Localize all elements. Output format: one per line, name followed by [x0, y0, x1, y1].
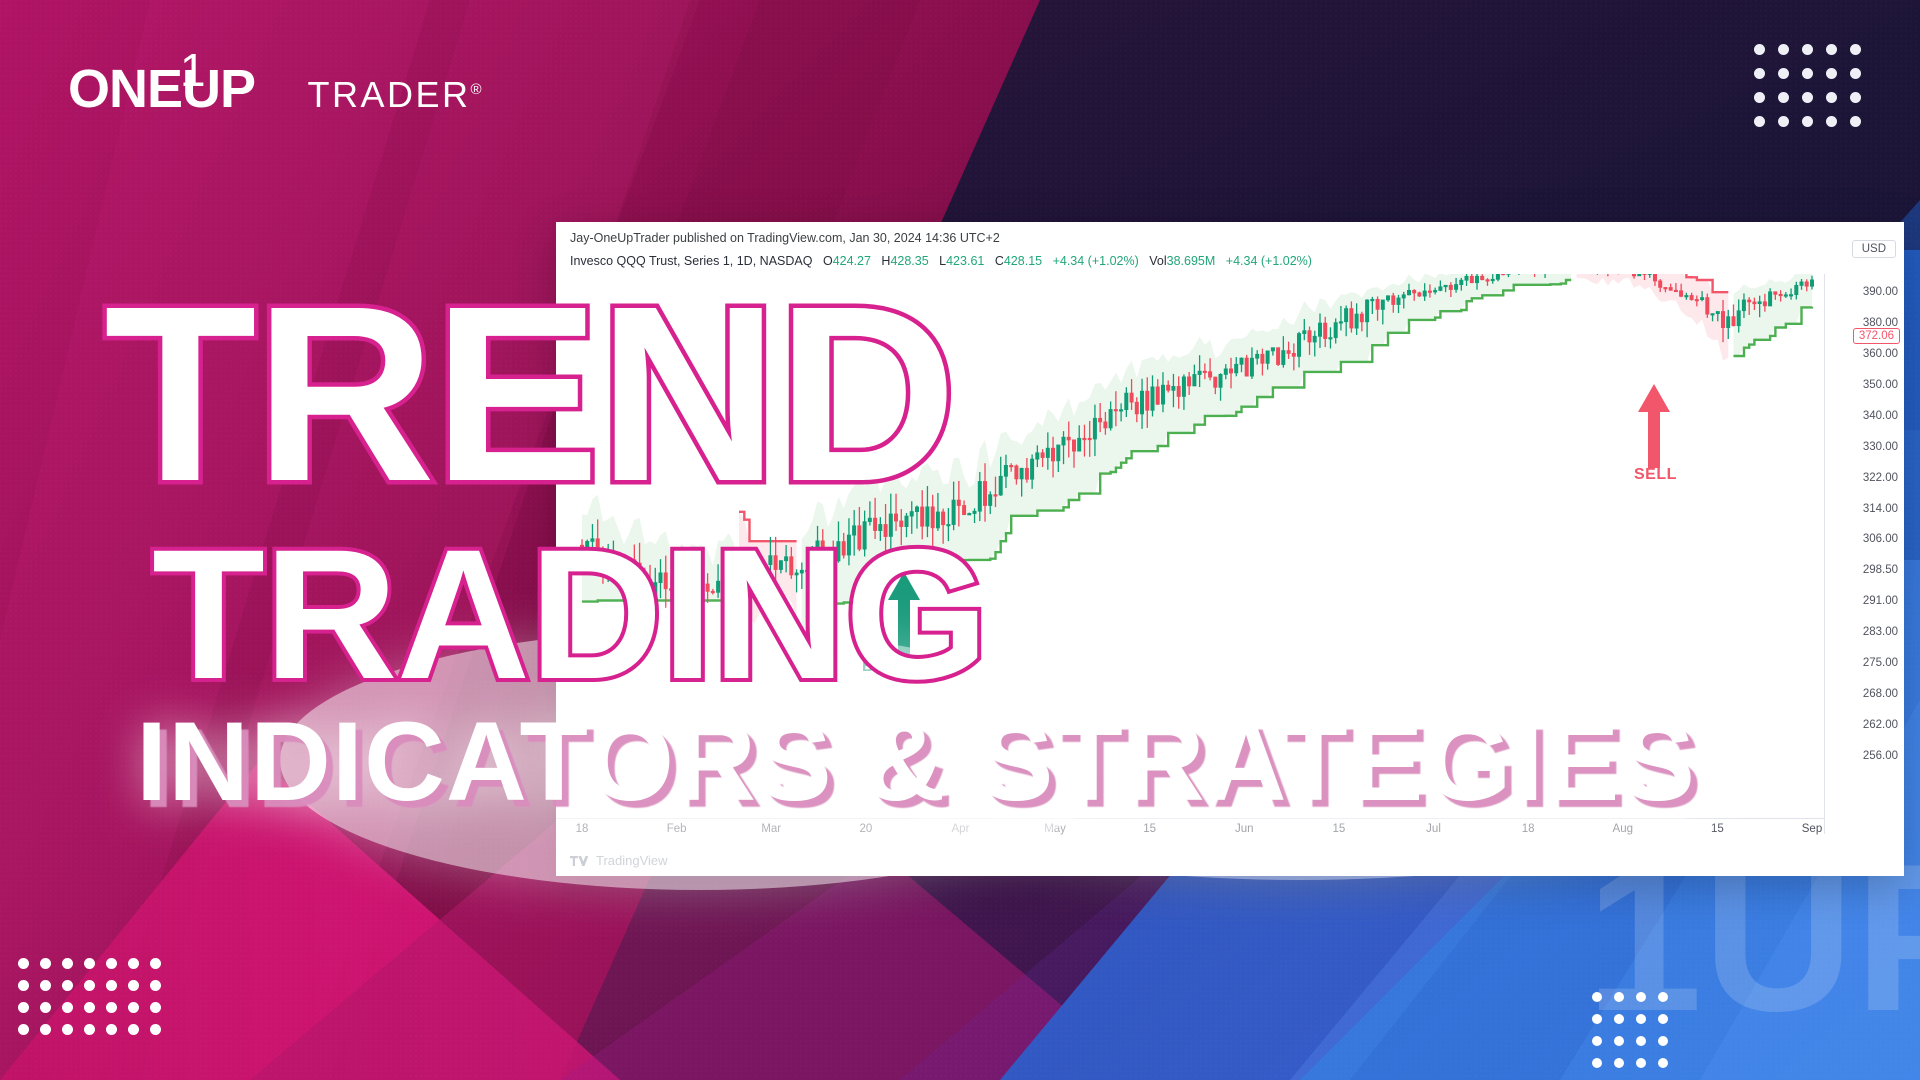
candle-body: [1151, 387, 1154, 410]
legend-change: +4.34 (+1.02%): [1053, 254, 1139, 268]
candle-body: [1496, 274, 1499, 279]
candle-body: [1805, 282, 1808, 286]
candle-body: [1680, 291, 1683, 297]
logo-line-oneup: ONEUP 1: [68, 62, 255, 116]
candle-body: [1167, 385, 1170, 390]
candle-body: [1737, 311, 1740, 326]
candle-body: [1093, 418, 1096, 439]
candle-body: [1334, 323, 1337, 338]
candle-body: [1193, 375, 1196, 386]
time-tick: 18: [1522, 823, 1535, 835]
candle-body: [1360, 314, 1363, 322]
candle-body: [1146, 391, 1149, 410]
candle-body: [785, 557, 788, 561]
candle-body: [607, 562, 610, 570]
time-tick: 18: [576, 823, 589, 835]
candle-body: [1475, 276, 1478, 282]
price-tick: 283.00: [1863, 626, 1898, 638]
supertrend-line: [582, 601, 734, 602]
candle-body: [926, 507, 929, 526]
candle-body: [1277, 348, 1280, 365]
candle-body: [811, 555, 814, 571]
candle-body: [1130, 393, 1133, 402]
time-tick: Sep: [1802, 823, 1822, 835]
candle-body: [837, 542, 840, 561]
candle-body: [748, 582, 751, 585]
candle-body: [1235, 364, 1238, 373]
registered-trademark-icon: ®: [471, 81, 482, 98]
candle-body: [743, 575, 746, 583]
candle-body: [1434, 291, 1437, 292]
candle-body: [1407, 290, 1410, 294]
candle-body: [1161, 385, 1164, 404]
candle-body: [1099, 418, 1102, 422]
candle-body: [1748, 300, 1751, 302]
candle-body: [910, 512, 913, 516]
dot-grid-bottom-left: [18, 958, 172, 1046]
legend-volume-change: +4.34 (+1.02%): [1226, 254, 1312, 268]
tradingview-logo-icon: [570, 854, 590, 868]
candle-body: [1109, 410, 1112, 428]
candle-body: [1072, 440, 1075, 451]
candle-body: [764, 565, 767, 583]
candle-body: [1125, 393, 1128, 410]
candle-body: [1669, 288, 1672, 291]
candle-body: [1350, 309, 1353, 328]
legend-open-label: O: [823, 254, 833, 268]
candle-body: [790, 557, 793, 575]
candle-body: [1345, 309, 1348, 322]
candle-body: [1648, 274, 1651, 275]
candle-body: [1763, 302, 1766, 306]
candle-body: [1004, 465, 1007, 476]
candle-body: [1067, 437, 1070, 440]
candle-body: [921, 507, 924, 526]
candle-body: [1287, 351, 1290, 354]
price-tick: 322.00: [1863, 472, 1898, 484]
time-axis[interactable]: 18FebMar20AprMay15Jun15Jul18Aug15Sep: [556, 818, 1824, 840]
candle-body: [1455, 285, 1458, 290]
candle-body: [612, 558, 615, 561]
candle-body: [853, 526, 856, 535]
candle-body: [633, 560, 636, 563]
candle-body: [800, 570, 803, 573]
candle-body: [1784, 295, 1787, 296]
candle-body: [816, 541, 819, 555]
candle-body: [1083, 438, 1086, 439]
candle-body: [1413, 290, 1416, 293]
candle-body: [1182, 377, 1185, 397]
candle-body: [1308, 331, 1311, 342]
candle-body: [957, 500, 960, 505]
candle-body: [936, 512, 939, 528]
candle-body: [1381, 300, 1384, 309]
candle-body: [1214, 377, 1217, 387]
candle-body: [1318, 323, 1321, 336]
time-tick: Aug: [1613, 823, 1633, 835]
candle-body: [1078, 438, 1081, 451]
candle-body: [617, 558, 620, 569]
candle-body: [1376, 299, 1379, 309]
candle-body: [1188, 377, 1191, 386]
buy-arrow-icon: [884, 570, 924, 666]
candle-body: [978, 482, 981, 512]
candle-body: [680, 580, 683, 581]
candle-body: [889, 514, 892, 536]
candle-body: [1386, 296, 1389, 300]
candle-body: [1229, 369, 1232, 373]
candle-body: [915, 507, 918, 512]
candle-body: [1339, 322, 1342, 323]
candle-body: [1653, 274, 1656, 281]
candle-body: [879, 525, 882, 531]
oneup-trader-logo: ONEUP 1 TRADER®: [68, 62, 482, 116]
candle-body: [963, 506, 966, 515]
candle-body: [596, 539, 599, 553]
candle-body: [1742, 300, 1745, 311]
candle-body: [1224, 369, 1227, 375]
time-tick: Feb: [667, 823, 687, 835]
candle-body: [1051, 448, 1054, 461]
candle-body: [1156, 387, 1159, 404]
candle-body: [863, 522, 866, 549]
candle-body: [931, 507, 934, 528]
price-tick: 291.00: [1863, 595, 1898, 607]
candle-body: [1690, 296, 1693, 300]
candle-body: [774, 556, 777, 570]
candle-body: [1062, 437, 1065, 445]
candle-body: [1256, 354, 1259, 358]
candle-body: [1423, 291, 1426, 296]
candle-body: [638, 563, 641, 579]
candle-body: [1470, 276, 1473, 282]
time-tick: 15: [1143, 823, 1156, 835]
candle-body: [1355, 314, 1358, 328]
legend-volume-value: 38.695M: [1167, 254, 1216, 268]
candle-body: [826, 553, 829, 560]
candle-body: [643, 580, 646, 581]
legend-exchange: NASDAQ: [760, 254, 813, 268]
candle-body: [1701, 298, 1704, 300]
candle-body: [1732, 317, 1735, 326]
tradingview-label: TradingView: [596, 853, 668, 868]
candle-body: [1297, 334, 1300, 357]
chart-plot-area[interactable]: [556, 274, 1824, 822]
candle-body: [1465, 276, 1468, 280]
time-tick: Jun: [1235, 823, 1254, 835]
candle-body: [868, 518, 871, 521]
candle-body: [905, 516, 908, 527]
currency-badge: USD: [1852, 240, 1896, 258]
candle-body: [1769, 292, 1772, 306]
candle-body: [1036, 453, 1039, 459]
candle-body: [1674, 290, 1677, 291]
candle-body: [1120, 410, 1123, 411]
candle-body: [675, 580, 678, 590]
candle-body: [1366, 300, 1369, 322]
dot-grid-bottom-right: [1592, 992, 1680, 1080]
chart-legend: Invesco QQQ Trust, Series 1, 1D, NASDAQ …: [570, 254, 1312, 268]
candle-body: [1502, 274, 1505, 275]
candle-body: [1088, 438, 1091, 439]
candle-body: [795, 573, 798, 575]
candle-body: [1810, 280, 1813, 286]
candle-body: [1015, 466, 1018, 479]
candle-body: [1261, 354, 1264, 363]
candle-body: [1753, 302, 1756, 304]
price-tick: 298.50: [1863, 564, 1898, 576]
candle-body: [737, 569, 740, 575]
logo-one-text: ONE: [68, 59, 182, 119]
legend-open-value: 424.27: [833, 254, 871, 268]
candle-body: [1031, 459, 1034, 479]
candle-body: [994, 495, 997, 496]
candle-body: [874, 518, 877, 530]
candle-body: [832, 553, 835, 561]
candle-body: [711, 591, 714, 592]
candle-body: [1449, 285, 1452, 289]
price-tick: 330.00: [1863, 441, 1898, 453]
time-tick: 15: [1333, 823, 1346, 835]
candle-body: [732, 569, 735, 576]
candle-body: [586, 541, 589, 550]
candle-body: [1481, 276, 1484, 279]
chart-credit-line: Jay-OneUpTrader published on TradingView…: [570, 231, 1000, 245]
candle-body: [1219, 374, 1222, 387]
candle-body: [1402, 295, 1405, 298]
candle-body: [1418, 293, 1421, 296]
tradingview-attribution[interactable]: TradingView: [570, 853, 668, 868]
candle-body: [722, 581, 725, 584]
candle-body: [769, 556, 772, 565]
candle-body: [1371, 299, 1374, 300]
legend-close-value: 428.15: [1004, 254, 1042, 268]
candle-body: [1706, 298, 1709, 315]
candle-body: [1135, 402, 1138, 414]
candle-body: [696, 570, 699, 576]
candle-body: [601, 553, 604, 571]
candle-body: [1800, 282, 1803, 286]
candle-body: [727, 576, 730, 584]
candle-body: [1324, 323, 1327, 339]
candle-body: [1439, 287, 1442, 291]
price-axis[interactable]: USD 372.06 390.00380.00360.00350.00340.0…: [1824, 274, 1904, 834]
candle-body: [1245, 358, 1248, 376]
price-tick: 380.00: [1863, 317, 1898, 329]
candle-body: [894, 514, 897, 521]
candle-body: [942, 512, 945, 525]
candle-body: [1758, 302, 1761, 304]
time-tick: 20: [859, 823, 872, 835]
price-tick: 390.00: [1863, 286, 1898, 298]
legend-volume-label: Vol: [1149, 254, 1166, 268]
candle-body: [1250, 358, 1253, 376]
price-tick: 275.00: [1863, 657, 1898, 669]
candle-body: [1041, 453, 1044, 458]
last-price-badge: 372.06: [1853, 328, 1900, 344]
candle-body: [999, 476, 1002, 495]
candle-body: [1789, 295, 1792, 296]
price-tick: 314.00: [1863, 503, 1898, 515]
candle-body: [1104, 422, 1107, 428]
candle-body: [1203, 371, 1206, 372]
candle-body: [1240, 358, 1243, 364]
price-tick: 262.00: [1863, 719, 1898, 731]
candle-body: [648, 580, 651, 597]
candle-body: [1282, 351, 1285, 365]
candle-body: [685, 581, 688, 592]
candle-body: [983, 482, 986, 506]
candle-body: [1643, 274, 1646, 275]
logo-line-trader: TRADER®: [308, 70, 482, 115]
candle-body: [591, 539, 594, 542]
price-tick: 340.00: [1863, 410, 1898, 422]
candle-body: [1795, 285, 1798, 294]
logo-trader-text: TRADER: [308, 74, 471, 115]
candle-body: [706, 584, 709, 591]
candle-body: [1292, 353, 1295, 356]
candle-body: [1664, 288, 1667, 289]
time-tick: May: [1044, 823, 1066, 835]
logo-digit-one: 1: [180, 43, 206, 97]
candle-body: [1313, 336, 1316, 342]
candle-body: [1303, 331, 1306, 334]
candle-body: [1721, 312, 1724, 328]
candle-body: [1491, 279, 1494, 280]
candle-body: [884, 525, 887, 537]
price-tick: 306.00: [1863, 533, 1898, 545]
candle-body: [1114, 410, 1117, 411]
candle-body: [669, 589, 672, 590]
candle-body: [701, 570, 704, 584]
buy-marker-label: BUY: [862, 658, 897, 676]
candle-body: [952, 500, 955, 524]
candle-body: [1486, 280, 1489, 281]
candle-body: [654, 583, 657, 597]
candle-body: [821, 541, 824, 560]
time-tick: Jul: [1426, 823, 1441, 835]
candle-body: [1428, 291, 1431, 292]
candle-body: [1659, 281, 1662, 288]
candle-body: [1638, 274, 1641, 276]
legend-high-value: 428.35: [890, 254, 928, 268]
candle-body: [1198, 371, 1201, 374]
sell-marker-label: SELL: [1634, 466, 1677, 484]
candle-body: [847, 535, 850, 555]
candle-body: [659, 573, 662, 583]
candle-body: [900, 521, 903, 527]
candle-body: [1397, 298, 1400, 305]
legend-symbol: Invesco QQQ Trust, Series 1: [570, 254, 730, 268]
price-tick: 360.00: [1863, 348, 1898, 360]
price-tick: 350.00: [1863, 379, 1898, 391]
candle-body: [1685, 296, 1688, 297]
candle-body: [973, 511, 976, 513]
candle-body: [1727, 317, 1730, 328]
candle-body: [805, 570, 808, 571]
candle-body: [1177, 386, 1180, 396]
candle-body: [1209, 372, 1212, 377]
candle-body: [989, 495, 992, 506]
price-tick: 268.00: [1863, 688, 1898, 700]
candle-body: [1057, 445, 1060, 461]
candle-body: [1010, 465, 1013, 466]
time-tick: Mar: [761, 823, 781, 835]
legend-interval: 1D: [737, 254, 753, 268]
candle-body: [1632, 274, 1635, 276]
candle-body: [1460, 280, 1463, 284]
legend-close-label: C: [995, 254, 1004, 268]
candle-body: [1716, 312, 1719, 314]
dot-grid-top-right: [1754, 44, 1874, 140]
price-tick: 256.00: [1863, 750, 1898, 762]
candle-body: [1392, 296, 1395, 305]
candle-body: [1172, 386, 1175, 390]
tradingview-chart-panel[interactable]: Jay-OneUpTrader published on TradingView…: [556, 222, 1904, 876]
candle-body: [758, 582, 761, 583]
price-series-svg: [556, 274, 1824, 822]
legend-low-value: 423.61: [946, 254, 984, 268]
candle-body: [1774, 292, 1777, 295]
candle-body: [622, 570, 625, 580]
candle-body: [1266, 351, 1269, 363]
candle-body: [779, 561, 782, 570]
candle-body: [628, 560, 631, 580]
candle-body: [968, 514, 971, 515]
candle-body: [1695, 300, 1698, 301]
time-tick: 15: [1711, 823, 1724, 835]
candle-body: [1140, 391, 1143, 414]
candle-body: [858, 526, 861, 549]
time-tick: Apr: [952, 823, 970, 835]
candle-body: [580, 545, 583, 550]
sell-arrow-icon: [1634, 382, 1674, 470]
candle-body: [1711, 314, 1714, 315]
candle-body: [842, 542, 845, 556]
candle-body: [690, 576, 693, 592]
candle-body: [1046, 448, 1049, 457]
candle-body: [1025, 468, 1028, 479]
candle-body: [947, 525, 950, 526]
candle-body: [1329, 338, 1332, 339]
candle-body: [1271, 348, 1274, 351]
candle-body: [1444, 285, 1447, 287]
candle-body: [753, 582, 756, 585]
candle-body: [664, 573, 667, 589]
candle-body: [717, 581, 720, 592]
candle-body: [1020, 468, 1023, 479]
candle-body: [1779, 294, 1782, 295]
